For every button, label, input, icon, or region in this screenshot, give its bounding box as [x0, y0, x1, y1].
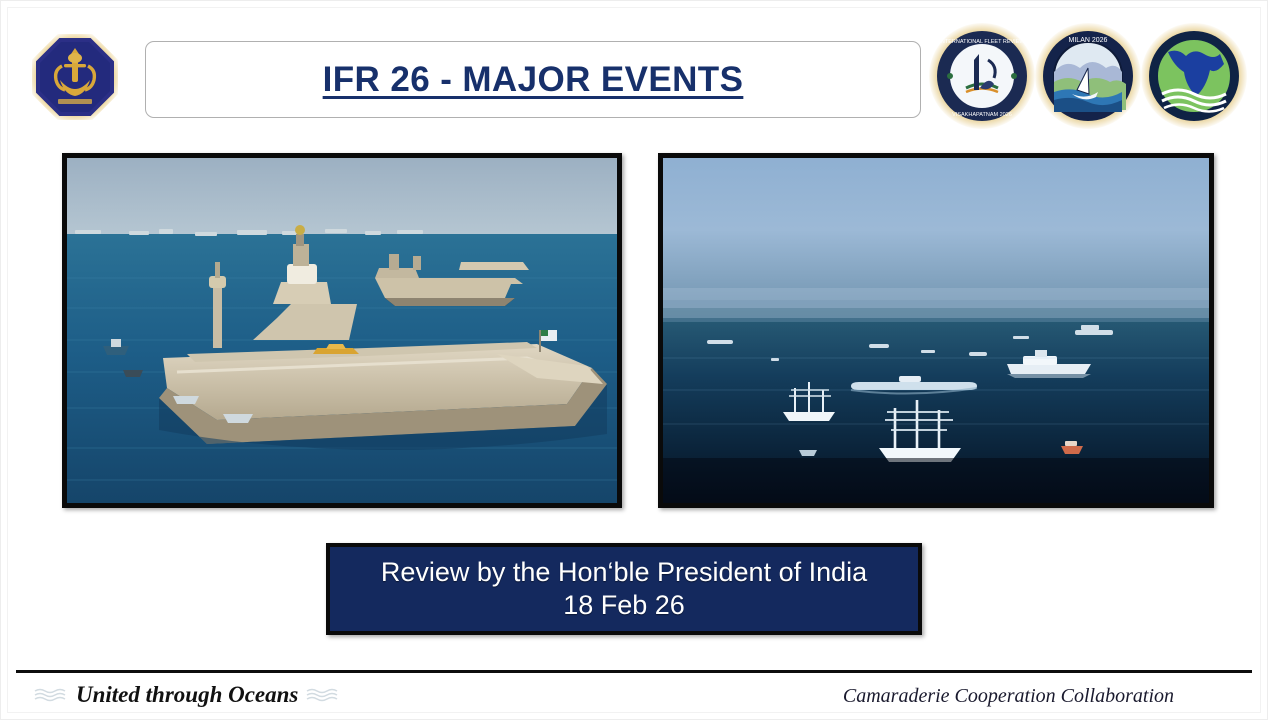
- indian-navy-crest-icon: [30, 32, 120, 124]
- international-fleet-review-logo-icon: INTERNATIONAL FLEET REVIEW VISAKHAPATNAM…: [932, 26, 1032, 126]
- caption-line-2: 18 Feb 26: [563, 589, 685, 622]
- header-logo-group: INTERNATIONAL FLEET REVIEW VISAKHAPATNAM…: [932, 26, 1244, 126]
- caption-line-1: Review by the Hon‘ble President of India: [381, 556, 867, 589]
- footer-left-text: United through Oceans: [76, 682, 298, 708]
- slide-inner-frame: IFR 26 - MAJOR EVENTS INTERNATIONAL FL: [7, 7, 1261, 713]
- svg-text:INTERNATIONAL FLEET REVIEW: INTERNATIONAL FLEET REVIEW: [939, 39, 1025, 45]
- footer-right-text: Camaraderie Cooperation Collaboration: [843, 685, 1174, 708]
- svg-text:VISAKHAPATNAM 2026: VISAKHAPATNAM 2026: [952, 112, 1012, 118]
- footer: United through Oceans Camaraderie Cooper…: [16, 676, 1252, 718]
- svg-text:MILAN 2026: MILAN 2026: [1069, 37, 1108, 44]
- footer-divider: [16, 670, 1252, 673]
- slide: IFR 26 - MAJOR EVENTS INTERNATIONAL FL: [0, 0, 1268, 720]
- wave-decoration-right-icon: [306, 686, 340, 704]
- page-title: IFR 26 - MAJOR EVENTS: [323, 60, 744, 100]
- caption-box: Review by the Hon‘ble President of India…: [326, 543, 922, 635]
- milan-2026-logo-icon: MILAN 2026: [1038, 26, 1138, 126]
- wave-decoration-left-icon: [34, 686, 68, 704]
- photo-fleet-aerial: [658, 153, 1214, 508]
- crest-anchor-emblem: [40, 42, 110, 112]
- footer-left-group: United through Oceans: [34, 682, 340, 708]
- indian-ocean-globe-logo-icon: [1144, 26, 1244, 126]
- slide-title-box: IFR 26 - MAJOR EVENTS: [145, 41, 921, 118]
- photo-aircraft-carrier: [62, 153, 622, 508]
